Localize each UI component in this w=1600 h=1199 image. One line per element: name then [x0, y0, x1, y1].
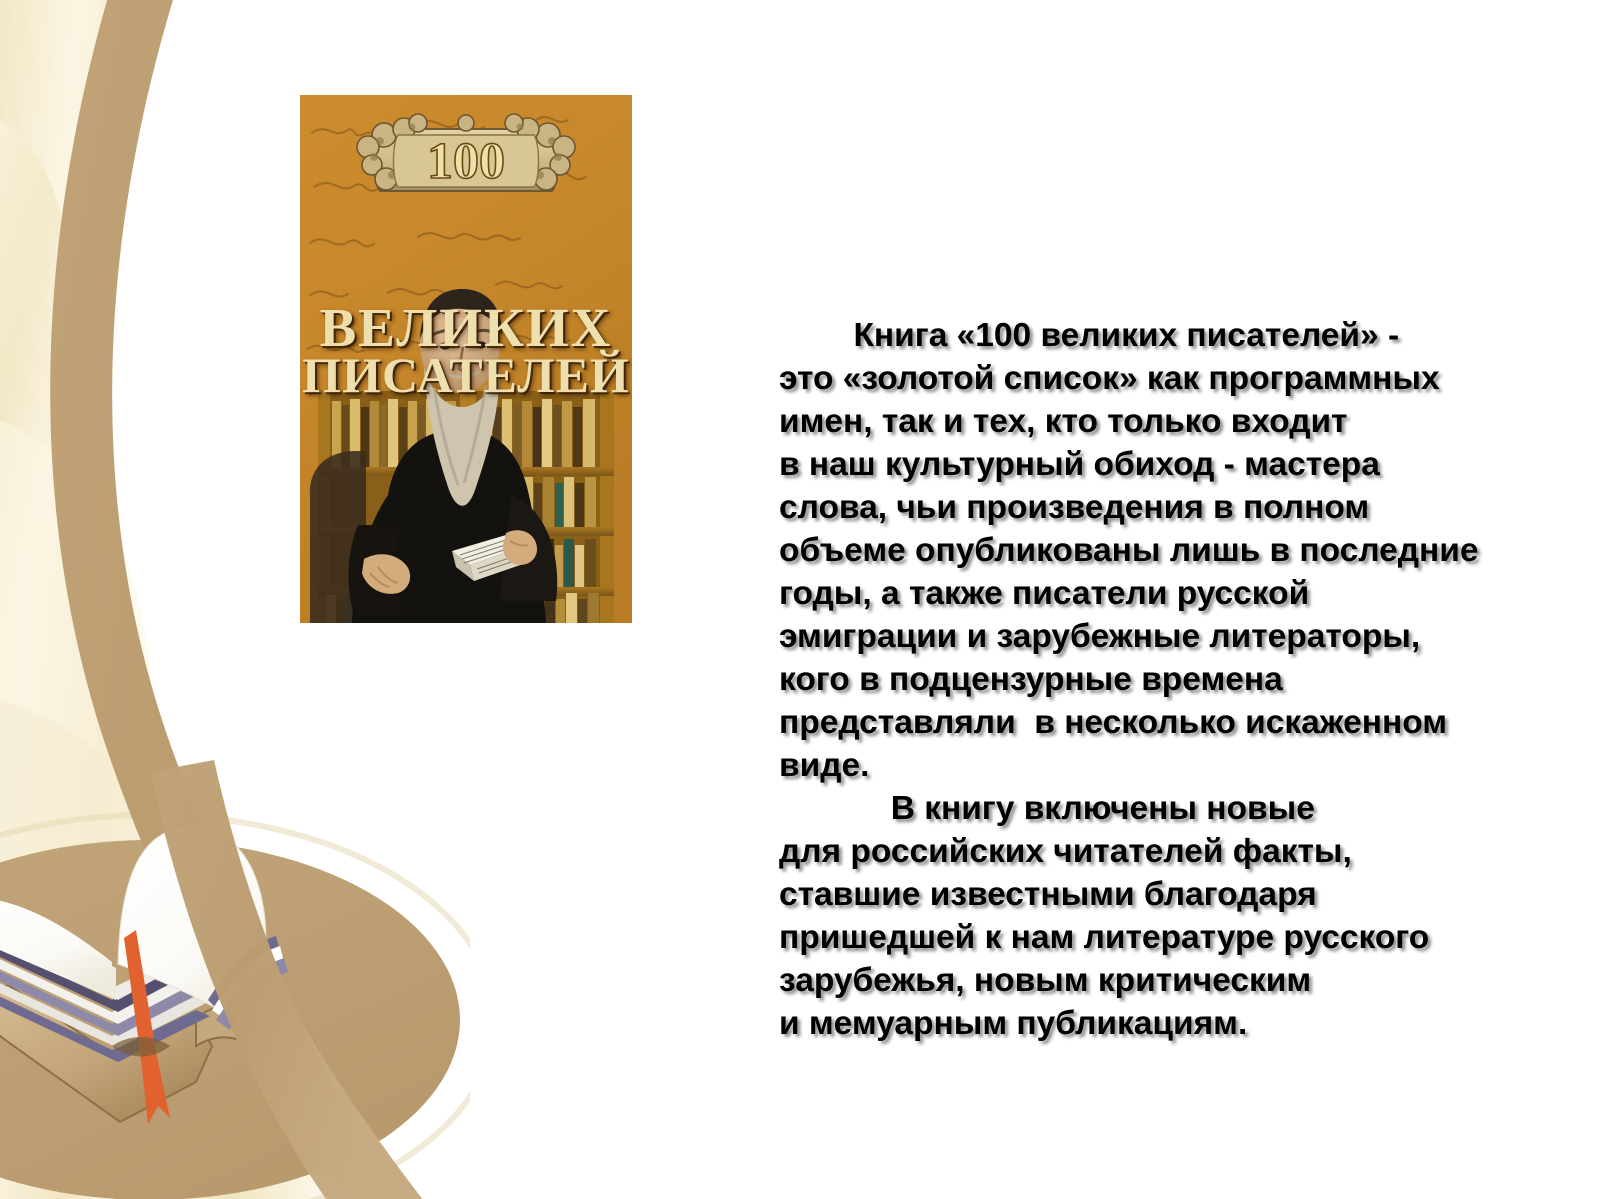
cover-title-line-2: ПИСАТЕЛЕЙ: [300, 350, 632, 400]
paragraph-book-description: Книга «100 великих писателей» - это «зол…: [779, 314, 1514, 787]
plaque-number-text: 100: [427, 133, 505, 190]
book-cover-image: 100 ВЕЛИКИХ ПИСАТЕЛЕЙ: [300, 95, 632, 623]
paragraph-new-facts: В книгу включены новые для российских чи…: [779, 787, 1514, 1045]
slide-canvas: 100 ВЕЛИКИХ ПИСАТЕЛЕЙ Книга «100 великих…: [0, 0, 1600, 1199]
slide-body-text: Книга «100 великих писателей» - это «зол…: [779, 314, 1514, 1045]
